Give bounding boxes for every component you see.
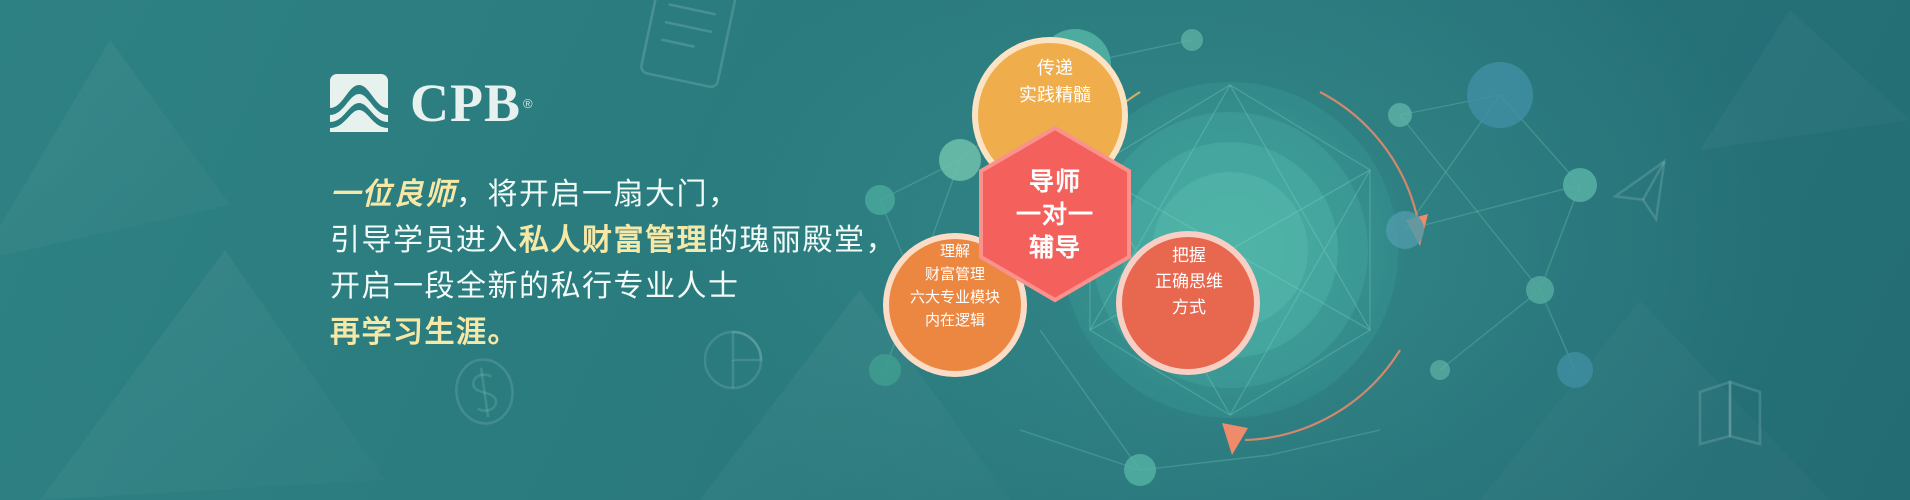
headline-line-3: 开启一段全新的私行专业人士	[330, 264, 890, 310]
headline-line-1-highlight: 一位良师	[330, 178, 456, 211]
left-content-column: CPB® 一位良师，将开启一扇大门， 引导学员进入私人财富管理的瑰丽殿堂， 开启…	[330, 72, 890, 432]
mentorship-diagram: 传递 实践精髓 理解 财富管理 六大专业模块 内在逻辑 把握 正确思维 方式 导…	[840, 0, 1620, 500]
brand-wordmark: CPB®	[410, 76, 534, 130]
brand-logo: CPB®	[330, 72, 890, 134]
headline-line-1-rest: ，将开启一扇大门，	[456, 178, 740, 211]
headline-line-2: 引导学员进入私人财富管理的瑰丽殿堂，	[330, 218, 890, 264]
registered-trademark-icon: ®	[523, 96, 534, 111]
headline-line-2-highlight: 私人财富管理	[519, 224, 708, 257]
cpb-wave-mark-icon	[330, 74, 388, 132]
node-circle-right	[1116, 231, 1260, 375]
brand-wordmark-text: CPB	[410, 73, 521, 133]
headline-line-4: 再学习生涯。	[330, 310, 890, 356]
diagram-graphics	[840, 0, 1620, 500]
headline-line-2-prefix: 引导学员进入	[330, 224, 519, 257]
headline-copy: 一位良师，将开启一扇大门， 引导学员进入私人财富管理的瑰丽殿堂， 开启一段全新的…	[330, 172, 890, 356]
headline-line-1: 一位良师，将开启一扇大门，	[330, 172, 890, 218]
banner-root: CPB® 一位良师，将开启一扇大门， 引导学员进入私人财富管理的瑰丽殿堂， 开启…	[0, 0, 1910, 500]
